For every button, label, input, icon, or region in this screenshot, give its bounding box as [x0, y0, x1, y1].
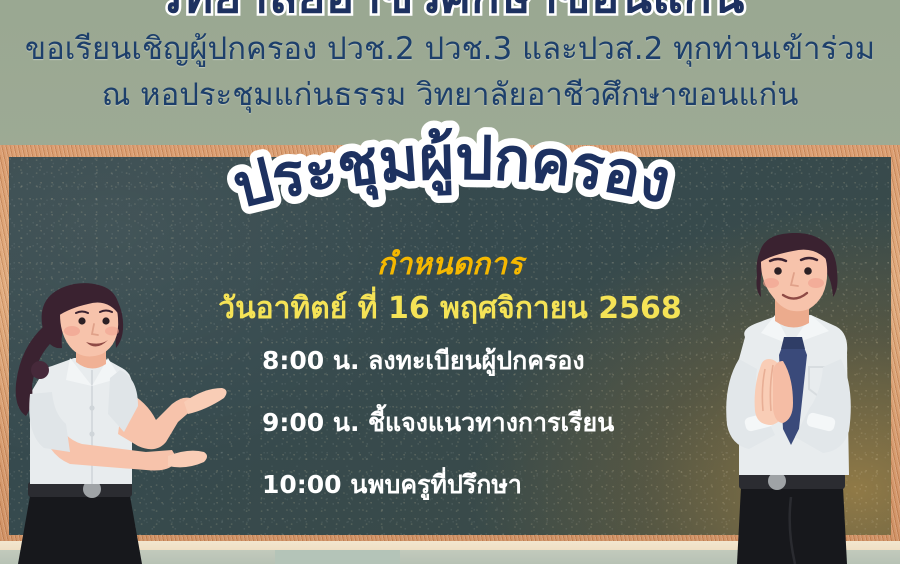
poster-header: วิทยาลัยอาชีวศึกษาขอนแก่น ขอเรียนเชิญผู้… — [0, 0, 900, 147]
chalkboard-scene: ประชุมผู้ปกครอง ประชุมผู้ปกครอง กำหนดการ… — [0, 145, 900, 564]
female-hair-tie — [31, 361, 49, 379]
male-tie-knot — [781, 337, 805, 349]
schedule-row: 9:00 น. ชี้แจงแนวทางการเรียน — [240, 403, 660, 443]
female-shirt-button — [89, 431, 94, 436]
schedule-activity: ลงทะเบียนผู้ปกครอง — [368, 341, 660, 381]
schedule-activity: ชี้แจงแนวทางการเรียน — [368, 403, 660, 443]
schedule-time: 9:00 น. — [240, 403, 368, 443]
male-blush-left — [763, 278, 779, 288]
female-blush-left — [64, 326, 80, 336]
wall-panel — [275, 550, 400, 564]
female-eye-left — [78, 317, 85, 324]
header-invitation-line: ขอเรียนเชิญผู้ปกครอง ปวช.2 ปวช.3 และปวส.… — [0, 23, 900, 73]
poster-canvas: วิทยาลัยอาชีวศึกษาขอนแก่น ขอเรียนเชิญผู้… — [0, 0, 900, 564]
female-eye-right — [102, 317, 109, 324]
female-hand-upper — [184, 388, 227, 414]
female-blush-right — [105, 327, 119, 336]
schedule-time: 8:00 น. — [240, 341, 368, 381]
female-belt — [28, 482, 132, 497]
male-blush-right — [808, 278, 824, 288]
schedule-time: 10:00 น. — [240, 465, 368, 505]
male-belt — [739, 473, 845, 489]
female-shirt-button — [89, 405, 94, 410]
male-eye-right — [804, 267, 812, 275]
male-eye-left — [774, 267, 782, 275]
schedule-row: 8:00 น. ลงทะเบียนผู้ปกครอง — [240, 341, 660, 381]
male-student-illustration — [683, 219, 898, 564]
female-skirt — [18, 496, 142, 564]
header-venue-line: ณ หอประชุมแก่นธรรม วิทยาลัยอาชีวศึกษาขอน… — [0, 69, 900, 119]
schedule-row: 10:00 น. พบครูที่ปรึกษา — [240, 465, 660, 505]
schedule-activity: พบครูที่ปรึกษา — [368, 465, 660, 505]
female-student-illustration — [0, 274, 236, 564]
